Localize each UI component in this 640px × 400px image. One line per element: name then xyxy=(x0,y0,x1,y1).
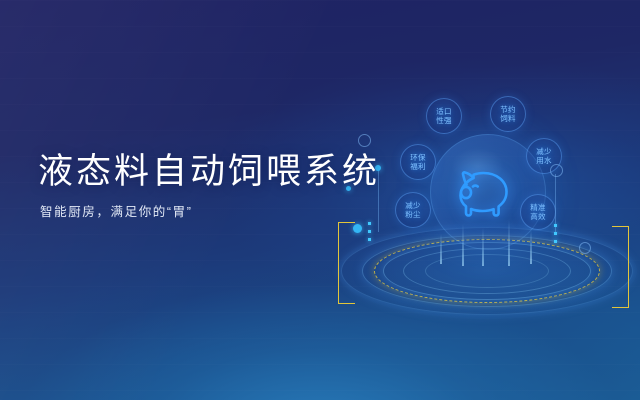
page-subtitle: 智能厨房，满足你的“胃” xyxy=(40,205,380,220)
bracket-right xyxy=(612,226,629,308)
badge-line-2: 饲料 xyxy=(497,114,519,124)
feature-badge-eco-benefit[interactable]: 环保福利 xyxy=(400,144,436,180)
badge-line-1: 环保 xyxy=(407,153,429,163)
decor-square-dot xyxy=(554,240,557,243)
feature-badge-precise-efficient[interactable]: 精准高效 xyxy=(520,194,556,230)
light-bar xyxy=(530,230,532,264)
badge-line-2: 福利 xyxy=(407,162,429,172)
badge-line-1: 节约 xyxy=(497,105,519,115)
light-bar xyxy=(440,234,442,264)
badge-line-2: 用水 xyxy=(533,156,555,166)
badge-line-2: 高效 xyxy=(527,212,549,222)
decor-ring-dot xyxy=(579,242,591,254)
page-title: 液态料自动饲喂系统 xyxy=(38,152,380,193)
feature-badge-reduce-dust[interactable]: 减少粉尘 xyxy=(395,192,431,228)
badge-line-1: 适口 xyxy=(433,107,455,117)
headline-block: 液态料自动饲喂系统 智能厨房，满足你的“胃” xyxy=(38,152,380,220)
decor-square-dot xyxy=(554,232,557,235)
pig-icon xyxy=(453,164,521,222)
feature-badge-palatability[interactable]: 适口性强 xyxy=(426,98,462,134)
decor-square-dot xyxy=(368,222,371,225)
decor-square-dot xyxy=(368,230,371,233)
decor-square-dot xyxy=(554,224,557,227)
decor-square-dot xyxy=(368,238,371,241)
badge-line-2: 粉尘 xyxy=(402,210,424,220)
badge-line-2: 性强 xyxy=(433,116,455,126)
decor-ring-dot xyxy=(358,134,371,147)
badge-line-1: 精准 xyxy=(527,203,549,213)
badge-line-1: 减少 xyxy=(402,201,424,211)
promo-banner: 液态料自动饲喂系统 智能厨房，满足你的“胃” xyxy=(0,0,640,400)
decor-ring-dot xyxy=(550,164,563,177)
badge-line-1: 减少 xyxy=(533,147,555,157)
feature-badge-save-feed[interactable]: 节约饲料 xyxy=(490,96,526,132)
bracket-left xyxy=(338,222,355,304)
